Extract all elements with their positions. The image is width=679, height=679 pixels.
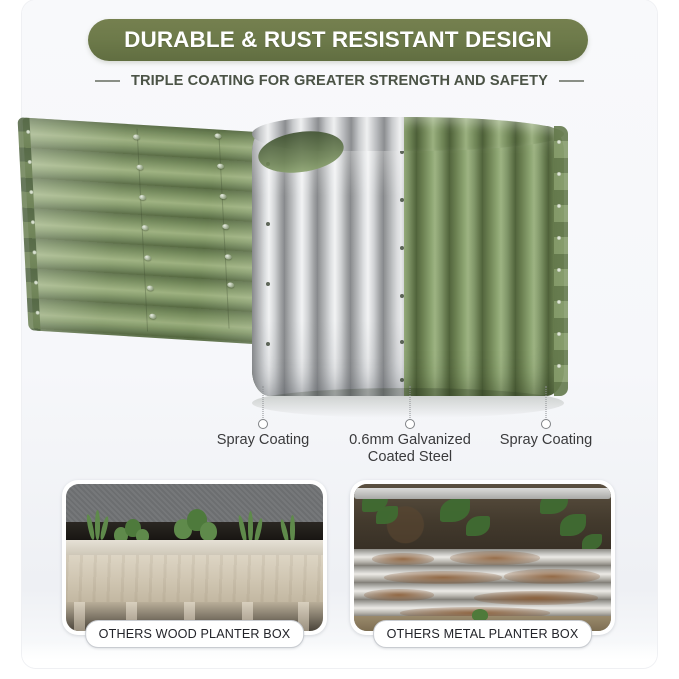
callout-label: Spray Coating [197,432,329,449]
callout-label: Spray Coating [481,432,611,449]
rust-stain [450,551,540,565]
leader-line-icon [546,386,547,420]
title-banner: DURABLE & RUST RESISTANT DESIGN [88,19,588,61]
leader-dot-icon [541,419,551,429]
panel-caption-metal: OTHERS METAL PLANTER BOX [373,620,593,648]
comparison-panel-metal: OTHERS METAL PLANTER BOX [350,480,615,635]
herb-plant [238,511,266,543]
cylinder-right-holes [554,140,562,384]
callout-galvanized-steel: 0.6mm Galvanized Coated Steel [330,432,490,466]
comparison-panel-wood: OTHERS WOOD PLANTER BOX [62,480,327,635]
leader-line-icon [410,386,411,420]
panel-caption-text: OTHERS WOOD PLANTER BOX [99,627,291,641]
herb-plant [114,515,150,543]
rust-stain [364,589,434,601]
product-illustration [0,104,679,424]
subtitle-row: TRIPLE COATING FOR GREATER STRENGTH AND … [0,68,679,94]
callout-spray-coating-left: Spray Coating [197,432,329,449]
herb-plant [86,510,112,540]
wood-planter-photo [66,484,323,631]
planter-cylinder [252,126,564,408]
leader-dot-icon [405,419,415,429]
panel-caption-text: OTHERS METAL PLANTER BOX [387,627,579,641]
callout-group: Spray Coating 0.6mm Galvanized Coated St… [0,380,679,465]
page-title: DURABLE & RUST RESISTANT DESIGN [124,27,552,53]
metal-planter-photo [354,484,611,631]
herb-plant [174,503,218,543]
callout-label: 0.6mm Galvanized Coated Steel [330,432,490,466]
wood-scene [66,484,323,631]
wood-front-face [66,555,323,604]
metal-scene [354,484,611,631]
header-section: DURABLE & RUST RESISTANT DESIGN TRIPLE C… [0,0,679,104]
panel-caption-wood: OTHERS WOOD PLANTER BOX [85,620,305,648]
rust-stain [384,571,502,584]
leader-dot-icon [258,419,268,429]
weed-sprout [472,609,488,621]
rust-stain [474,591,598,605]
callout-spray-coating-right: Spray Coating [481,432,611,449]
page-subtitle: TRIPLE COATING FOR GREATER STRENGTH AND … [131,73,548,89]
dash-left-icon [95,80,120,82]
comparison-section: OTHERS WOOD PLANTER BOX [0,480,679,650]
rust-stain [372,553,434,565]
metal-top-rail [354,488,611,498]
rust-stain [504,569,600,584]
leader-line-icon [263,386,264,420]
dash-right-icon [559,80,584,82]
infographic-page: DURABLE & RUST RESISTANT DESIGN TRIPLE C… [0,0,679,679]
herb-plant [280,515,306,543]
